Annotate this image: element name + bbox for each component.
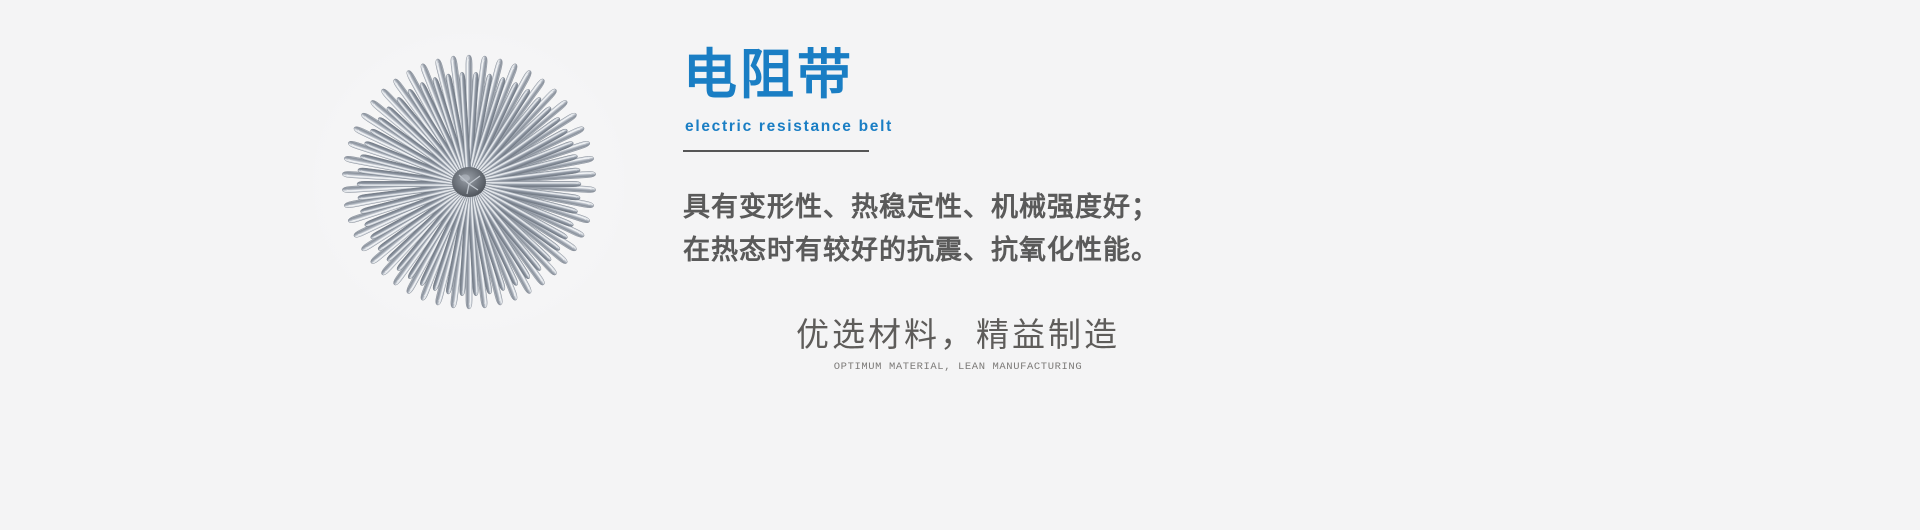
- banner-text-column: 电阻带 electric resistance belt 具有变形性、热稳定性、…: [683, 0, 1383, 530]
- resistance-ribbon-coil-image: [293, 32, 653, 362]
- slogan-zh: 优选材料，精益制造: [743, 316, 1173, 357]
- slogan-en: OPTIMUM MATERIAL, LEAN MANUFACTURING: [743, 361, 1173, 373]
- description-line-2: 在热态时有较好的抗震、抗氧化性能。: [683, 229, 1243, 272]
- slogan-block: 优选材料，精益制造 OPTIMUM MATERIAL, LEAN MANUFAC…: [743, 316, 1173, 373]
- product-image: [293, 32, 653, 362]
- page-subtitle: electric resistance belt: [685, 118, 893, 136]
- divider: [683, 150, 869, 152]
- description-line-1: 具有变形性、热稳定性、机械强度好；: [683, 186, 1243, 229]
- product-description: 具有变形性、热稳定性、机械强度好； 在热态时有较好的抗震、抗氧化性能。: [683, 186, 1243, 272]
- page-title: 电阻带: [683, 47, 854, 104]
- product-banner: 电阻带 electric resistance belt 具有变形性、热稳定性、…: [0, 0, 1920, 530]
